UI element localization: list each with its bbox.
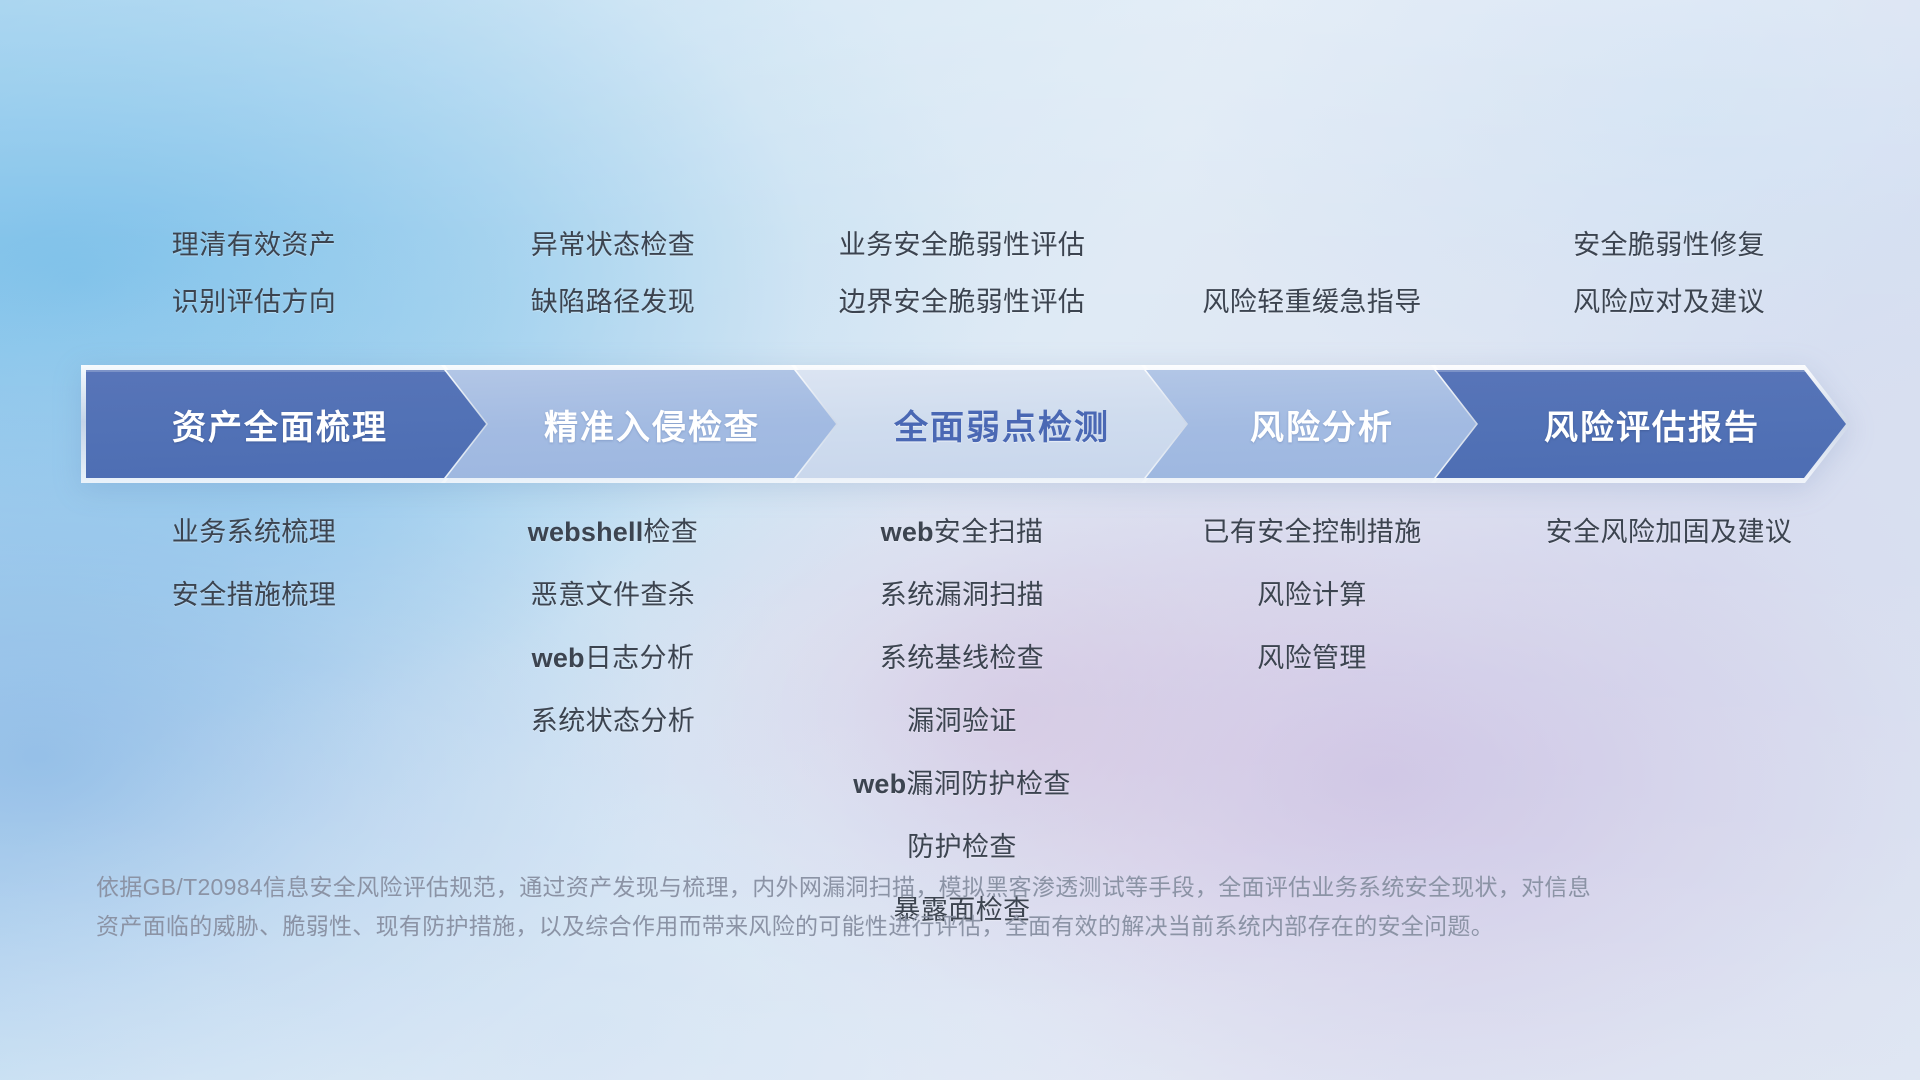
chevron-step-1[interactable]: 资产全面梳理 [86,370,486,478]
bottom-column-4-item-2: 风险计算 [1257,575,1367,616]
bottom-column-4: 已有安全控制措施 风险计算 风险管理 [1136,512,1488,701]
bottom-column-4-item-3: 风险管理 [1257,638,1367,679]
top-column-1-item-1: 理清有效资产 [172,225,336,266]
bottom-column-2-item-4: 系统状态分析 [531,701,695,742]
bottom-column-2-item-1: webshell检查 [528,512,698,553]
bottom-column-1-item-2: 安全措施梳理 [172,575,336,616]
bottom-column-5-item-1: 安全风险加固及建议 [1546,512,1793,553]
chevron-step-3[interactable]: 全面弱点检测 [796,370,1186,478]
top-column-2-item-2: 缺陷路径发现 [531,282,695,323]
top-column-4-item-1: 风险轻重缓急指导 [1202,282,1421,323]
bottom-column-4-item-1: 已有安全控制措施 [1202,512,1421,553]
bottom-column-2-item-1-text: 检查 [643,517,698,547]
chevron-step-5[interactable]: 风险评估报告 [1436,370,1846,478]
chevron-step-1-label: 资产全面梳理 [172,400,400,449]
process-chevron-banner: 资产全面梳理 精准入侵检查 全面弱点检测 风险分析 风险评估报告 [86,370,1846,478]
bottom-column-1: 业务系统梳理 安全措施梳理 [70,512,438,638]
bottom-column-3-item-2: 系统漏洞扫描 [880,575,1044,616]
bottom-column-2-item-2: 恶意文件查杀 [531,575,695,616]
chevron-step-3-label: 全面弱点检测 [872,400,1110,449]
bottom-column-2-item-3-text: 日志分析 [585,643,695,673]
top-column-5-item-1: 安全脆弱性修复 [1573,225,1765,266]
top-capability-columns: 理清有效资产 识别评估方向 异常状态检查 缺陷路径发现 业务安全脆弱性评估 边界… [70,225,1850,323]
bottom-column-3-item-3: 系统基线检查 [880,638,1044,679]
top-column-5-item-2: 风险应对及建议 [1573,282,1765,323]
top-column-1-item-2: 识别评估方向 [172,282,336,323]
footer-line-2: 资产面临的威胁、脆弱性、现有防护措施，以及综合作用而带来风险的可能性进行评估，全… [96,907,1656,946]
chevron-step-4[interactable]: 风险分析 [1146,370,1476,478]
top-column-2: 异常状态检查 缺陷路径发现 [438,225,788,323]
bottom-column-2-item-3-bold: web [532,643,585,673]
top-column-3-item-2: 边界安全脆弱性评估 [839,282,1086,323]
chevron-step-2-label: 精准入侵检查 [522,400,760,449]
chevron-step-5-label: 风险评估报告 [1522,400,1760,449]
bottom-column-3-item-4: 漏洞验证 [907,701,1017,742]
bottom-column-3-item-6: 防护检查 [907,827,1017,868]
top-column-1: 理清有效资产 识别评估方向 [70,225,438,323]
chevron-step-2[interactable]: 精准入侵检查 [446,370,836,478]
top-column-4: 风险轻重缓急指导 [1136,282,1488,323]
slide-canvas: 理清有效资产 识别评估方向 异常状态检查 缺陷路径发现 业务安全脆弱性评估 边界… [0,0,1920,1080]
top-column-3: 业务安全脆弱性评估 边界安全脆弱性评估 [788,225,1136,323]
top-column-3-item-1: 业务安全脆弱性评估 [839,225,1086,266]
top-column-5: 安全脆弱性修复 风险应对及建议 [1488,225,1850,323]
footer-description: 依据GB/T20984信息安全风险评估规范，通过资产发现与梳理，内外网漏洞扫描，… [96,868,1656,945]
bottom-column-2-item-1-bold: webshell [528,517,644,547]
footer-line-1: 依据GB/T20984信息安全风险评估规范，通过资产发现与梳理，内外网漏洞扫描，… [96,868,1656,907]
chevron-step-4-label: 风险分析 [1228,400,1394,449]
bottom-column-3-item-5: web漏洞防护检查 [853,764,1071,805]
top-column-2-item-1: 异常状态检查 [531,225,695,266]
bottom-column-5: 安全风险加固及建议 [1488,512,1850,575]
bottom-column-3-item-5-bold: web [853,769,906,799]
bottom-column-2: webshell检查 恶意文件查杀 web日志分析 系统状态分析 [438,512,788,764]
bottom-column-3-item-1-text: 安全扫描 [934,517,1044,547]
bottom-column-3-item-1-bold: web [881,517,934,547]
bottom-column-1-item-1: 业务系统梳理 [172,512,336,553]
bottom-column-3-item-5-text: 漏洞防护检查 [906,769,1070,799]
bottom-column-2-item-3: web日志分析 [532,638,695,679]
bottom-column-3-item-1: web安全扫描 [881,512,1044,553]
